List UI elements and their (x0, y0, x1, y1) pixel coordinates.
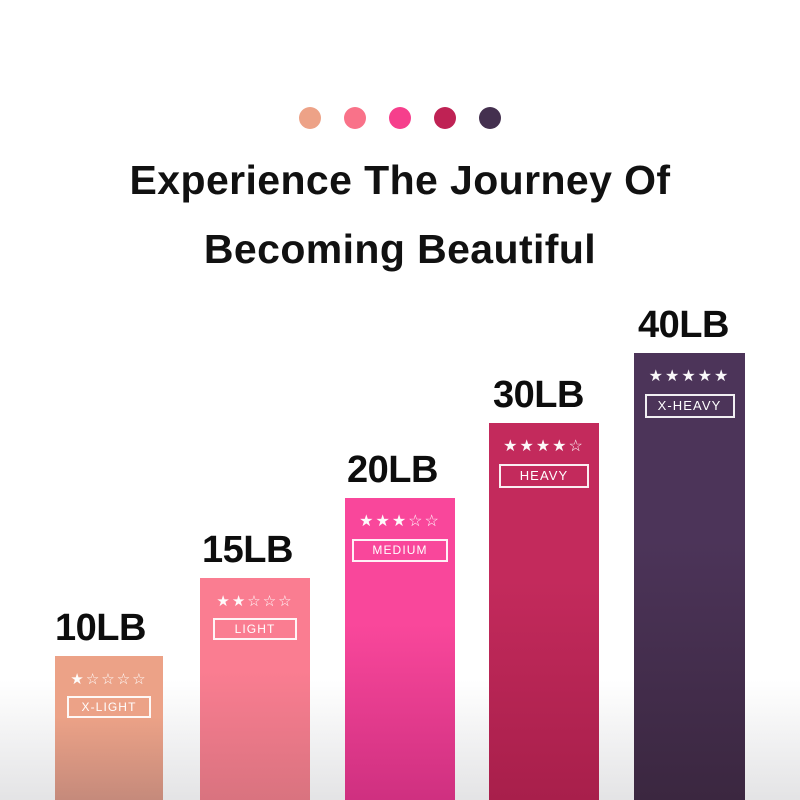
bar-15lb[interactable]: 15LB★★☆☆☆LIGHT (200, 578, 310, 800)
bar-10lb-level-badge: X-LIGHT (67, 696, 151, 718)
bar-15lb-weight-label: 15LB (202, 531, 293, 578)
bar-40lb-fill: ★★★★★X-HEAVY (634, 353, 745, 800)
bar-20lb-fill: ★★★☆☆MEDIUM (345, 498, 455, 800)
bar-10lb[interactable]: 10LB★☆☆☆☆X-LIGHT (55, 656, 163, 800)
bar-10lb-weight-label: 10LB (55, 609, 146, 656)
dot-x-light-icon (299, 107, 321, 129)
color-swatch-row (0, 105, 800, 131)
bar-30lb-level-badge: HEAVY (499, 464, 589, 488)
dot-heavy-icon (434, 107, 456, 129)
bar-40lb-level-badge: X-HEAVY (645, 394, 735, 418)
bar-30lb[interactable]: 30LB★★★★☆HEAVY (489, 423, 599, 800)
bar-20lb-level-badge: MEDIUM (352, 539, 448, 562)
bar-30lb-star-rating: ★★★★☆ (503, 439, 585, 455)
headline-line-2: Becoming Beautiful (0, 215, 800, 284)
dot-x-heavy-icon (479, 107, 501, 129)
bar-15lb-fill: ★★☆☆☆LIGHT (200, 578, 310, 800)
bar-40lb-star-rating: ★★★★★ (649, 369, 731, 385)
bar-15lb-star-rating: ★★☆☆☆ (216, 594, 293, 609)
bar-15lb-level-badge: LIGHT (213, 618, 297, 640)
headline-line-1: Experience The Journey Of (0, 146, 800, 215)
page-title: Experience The Journey Of Becoming Beaut… (0, 146, 800, 284)
bar-40lb[interactable]: 40LB★★★★★X-HEAVY (634, 353, 745, 800)
bar-20lb-star-rating: ★★★☆☆ (359, 514, 441, 530)
bar-10lb-star-rating: ★☆☆☆☆ (70, 672, 147, 687)
bar-30lb-weight-label: 30LB (493, 376, 584, 423)
dot-light-icon (344, 107, 366, 129)
bar-30lb-fill: ★★★★☆HEAVY (489, 423, 599, 800)
bar-10lb-fill: ★☆☆☆☆X-LIGHT (55, 656, 163, 800)
promo-infographic: Experience The Journey Of Becoming Beaut… (0, 0, 800, 800)
bar-20lb[interactable]: 20LB★★★☆☆MEDIUM (345, 498, 455, 800)
bar-40lb-weight-label: 40LB (638, 306, 729, 353)
bar-20lb-weight-label: 20LB (347, 451, 438, 498)
dot-medium-icon (389, 107, 411, 129)
